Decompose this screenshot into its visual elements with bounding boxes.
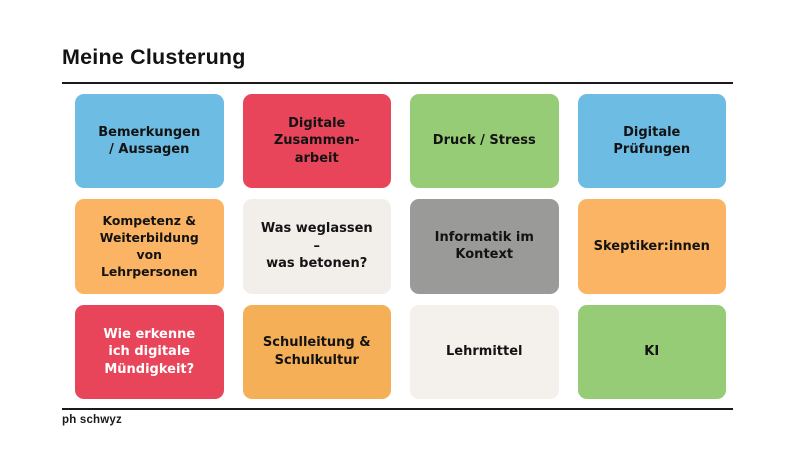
title-area: Meine Clusterung bbox=[62, 44, 734, 84]
cluster-card[interactable]: Druck / Stress bbox=[410, 94, 559, 188]
cluster-card[interactable]: Schulleitung & Schulkultur bbox=[243, 305, 392, 399]
cluster-card[interactable]: Wie erkenne ich digitale Mündigkeit? bbox=[75, 305, 224, 399]
cluster-card-label: Schulleitung & Schulkultur bbox=[263, 334, 371, 369]
footer-brand: ph schwyz bbox=[62, 414, 122, 426]
cluster-card-label: Digitale Zusammen- arbeit bbox=[274, 115, 360, 168]
cluster-card-label: Druck / Stress bbox=[433, 132, 536, 150]
cluster-card-label: Kompetenz & Weiterbildung von Lehrperson… bbox=[100, 212, 199, 280]
cluster-card-label: Skeptiker:innen bbox=[594, 238, 710, 256]
cluster-card-label: Informatik im Kontext bbox=[435, 229, 534, 264]
cluster-card-label: Digitale Prüfungen bbox=[613, 124, 690, 159]
cluster-card[interactable]: Digitale Prüfungen bbox=[578, 94, 727, 188]
cluster-card-label: Was weglassen – was betonen? bbox=[261, 220, 373, 273]
cluster-card[interactable]: Kompetenz & Weiterbildung von Lehrperson… bbox=[75, 199, 224, 293]
page-title: Meine Clusterung bbox=[62, 44, 734, 70]
cluster-card-label: Bemerkungen / Aussagen bbox=[98, 124, 200, 159]
title-divider bbox=[62, 82, 733, 84]
footer-divider bbox=[62, 408, 733, 410]
cluster-card-label: KI bbox=[644, 343, 659, 361]
cluster-card[interactable]: Digitale Zusammen- arbeit bbox=[243, 94, 392, 188]
cluster-card[interactable]: Informatik im Kontext bbox=[410, 199, 559, 293]
cluster-card-label: Lehrmittel bbox=[446, 343, 522, 361]
cluster-card[interactable]: Bemerkungen / Aussagen bbox=[75, 94, 224, 188]
cluster-card-grid: Bemerkungen / Aussagen Digitale Zusammen… bbox=[75, 94, 726, 399]
slide-canvas: Meine Clusterung Bemerkungen / Aussagen … bbox=[0, 0, 800, 450]
cluster-card[interactable]: Was weglassen – was betonen? bbox=[243, 199, 392, 293]
cluster-card[interactable]: Lehrmittel bbox=[410, 305, 559, 399]
cluster-card[interactable]: KI bbox=[578, 305, 727, 399]
cluster-card[interactable]: Skeptiker:innen bbox=[578, 199, 727, 293]
cluster-card-label: Wie erkenne ich digitale Mündigkeit? bbox=[103, 326, 195, 379]
